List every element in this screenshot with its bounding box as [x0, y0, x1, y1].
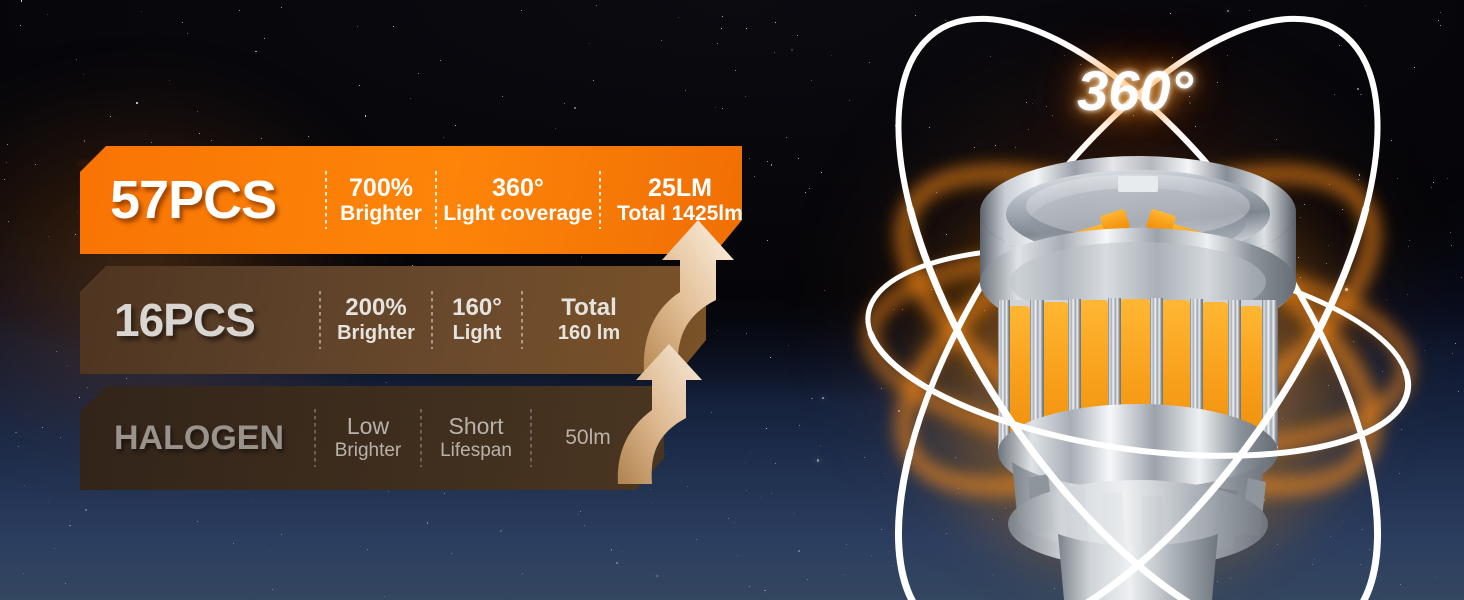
stat-label: Light: [453, 322, 502, 344]
headline-360-degrees: 360°: [1020, 58, 1250, 123]
stat-cell: Total 160 lm: [523, 295, 655, 344]
product-infographic: 57PCS 700% Brighter 360° Light coverage …: [0, 0, 1464, 600]
stat-cell: 160° Light: [433, 295, 521, 344]
comparison-chart: 57PCS 700% Brighter 360° Light coverage …: [0, 0, 790, 600]
stat-cell: Short Lifespan: [422, 414, 530, 461]
row-title: 57PCS: [110, 169, 325, 231]
stat-label: Lifespan: [440, 440, 512, 461]
row-stats: 200% Brighter 160° Light Total 160 lm: [319, 266, 655, 374]
row-title: HALOGEN: [114, 419, 314, 458]
stat-cell: 50lm: [532, 426, 644, 450]
stat-label: 160 lm: [558, 322, 620, 344]
row-title: 16PCS: [114, 293, 319, 347]
row-stats: Low Brighter Short Lifespan 50lm: [314, 386, 644, 490]
stat-value: 160°: [452, 295, 502, 322]
row-stats: 700% Brighter 360° Light coverage 25LM T…: [325, 146, 759, 254]
stat-label: Total 1425lm: [617, 202, 743, 226]
comparison-row-led-57pcs: 57PCS 700% Brighter 360° Light coverage …: [80, 146, 742, 254]
stat-label: Brighter: [335, 440, 402, 461]
stat-cell: 700% Brighter: [327, 174, 435, 226]
stat-value: Short: [449, 414, 504, 440]
stat-value: 700%: [349, 174, 413, 202]
stat-value: Low: [347, 414, 389, 440]
stat-cell: Low Brighter: [316, 414, 420, 461]
stat-value: 200%: [345, 295, 406, 322]
dome-tab: [1118, 176, 1158, 192]
stat-cell: 200% Brighter: [321, 295, 431, 344]
stat-label: Brighter: [340, 202, 422, 226]
stat-cell: 25LM Total 1425lm: [601, 174, 759, 226]
bulb-body: [980, 156, 1296, 600]
stat-cell: 360° Light coverage: [437, 174, 599, 226]
stat-value: 360°: [492, 174, 544, 202]
comparison-row-halogen: HALOGEN Low Brighter Short Lifespan 50lm: [80, 386, 664, 490]
comparison-row-led-16pcs: 16PCS 200% Brighter 160° Light Total 160…: [80, 266, 706, 374]
stat-value: 25LM: [648, 174, 712, 202]
stat-value: 50lm: [565, 426, 611, 450]
stat-value: Total: [561, 295, 617, 322]
stat-label: Light coverage: [443, 202, 592, 226]
stat-label: Brighter: [337, 322, 415, 344]
